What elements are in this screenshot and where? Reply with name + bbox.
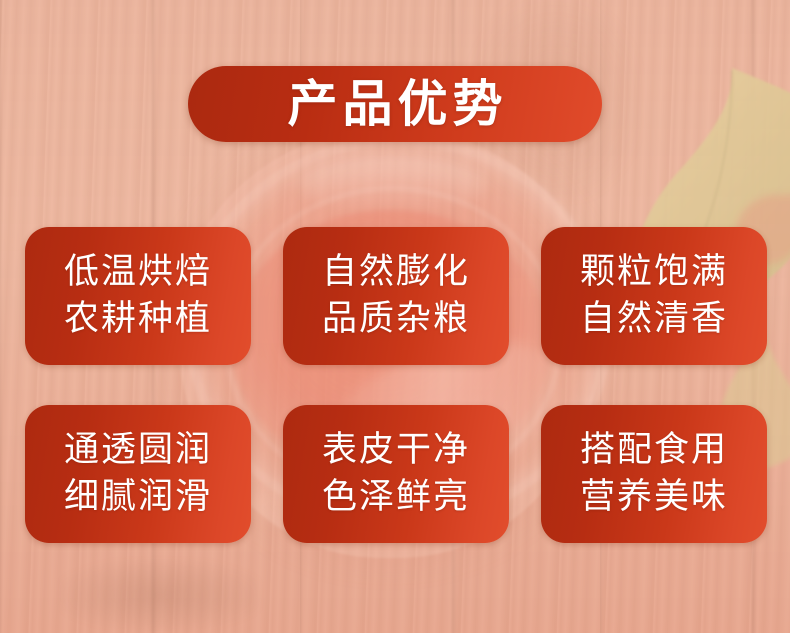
advantage-card-2-line1: 自然膨化 bbox=[322, 249, 470, 296]
advantage-card-grid: 低温烘焙 农耕种植 自然膨化 品质杂粮 颗粒饱满 自然清香 通透圆润 细腻润滑 … bbox=[25, 227, 767, 543]
advantage-card-5-line1: 表皮干净 bbox=[322, 427, 470, 474]
advantage-card-5[interactable]: 表皮干净 色泽鲜亮 bbox=[283, 405, 509, 543]
product-advantage-poster: 产品优势 低温烘焙 农耕种植 自然膨化 品质杂粮 颗粒饱满 自然清香 通透圆润 … bbox=[0, 0, 790, 633]
advantage-card-2-line2: 品质杂粮 bbox=[322, 296, 470, 343]
advantage-card-4[interactable]: 通透圆润 细腻润滑 bbox=[25, 405, 251, 543]
advantage-card-3-line1: 颗粒饱满 bbox=[580, 249, 728, 296]
advantage-card-1-line2: 农耕种植 bbox=[64, 296, 212, 343]
page-title-banner: 产品优势 bbox=[188, 66, 602, 142]
advantage-card-6-line2: 营养美味 bbox=[580, 474, 728, 521]
advantage-card-3-line2: 自然清香 bbox=[580, 296, 728, 343]
page-title: 产品优势 bbox=[283, 79, 508, 129]
advantage-card-6-line1: 搭配食用 bbox=[580, 427, 728, 474]
advantage-card-2[interactable]: 自然膨化 品质杂粮 bbox=[283, 227, 509, 365]
advantage-card-1-line1: 低温烘焙 bbox=[64, 249, 212, 296]
advantage-card-4-line2: 细腻润滑 bbox=[64, 474, 212, 521]
advantage-card-3[interactable]: 颗粒饱满 自然清香 bbox=[541, 227, 767, 365]
advantage-card-4-line1: 通透圆润 bbox=[64, 427, 212, 474]
advantage-card-6[interactable]: 搭配食用 营养美味 bbox=[541, 405, 767, 543]
advantage-card-1[interactable]: 低温烘焙 农耕种植 bbox=[25, 227, 251, 365]
advantage-card-5-line2: 色泽鲜亮 bbox=[322, 474, 470, 521]
